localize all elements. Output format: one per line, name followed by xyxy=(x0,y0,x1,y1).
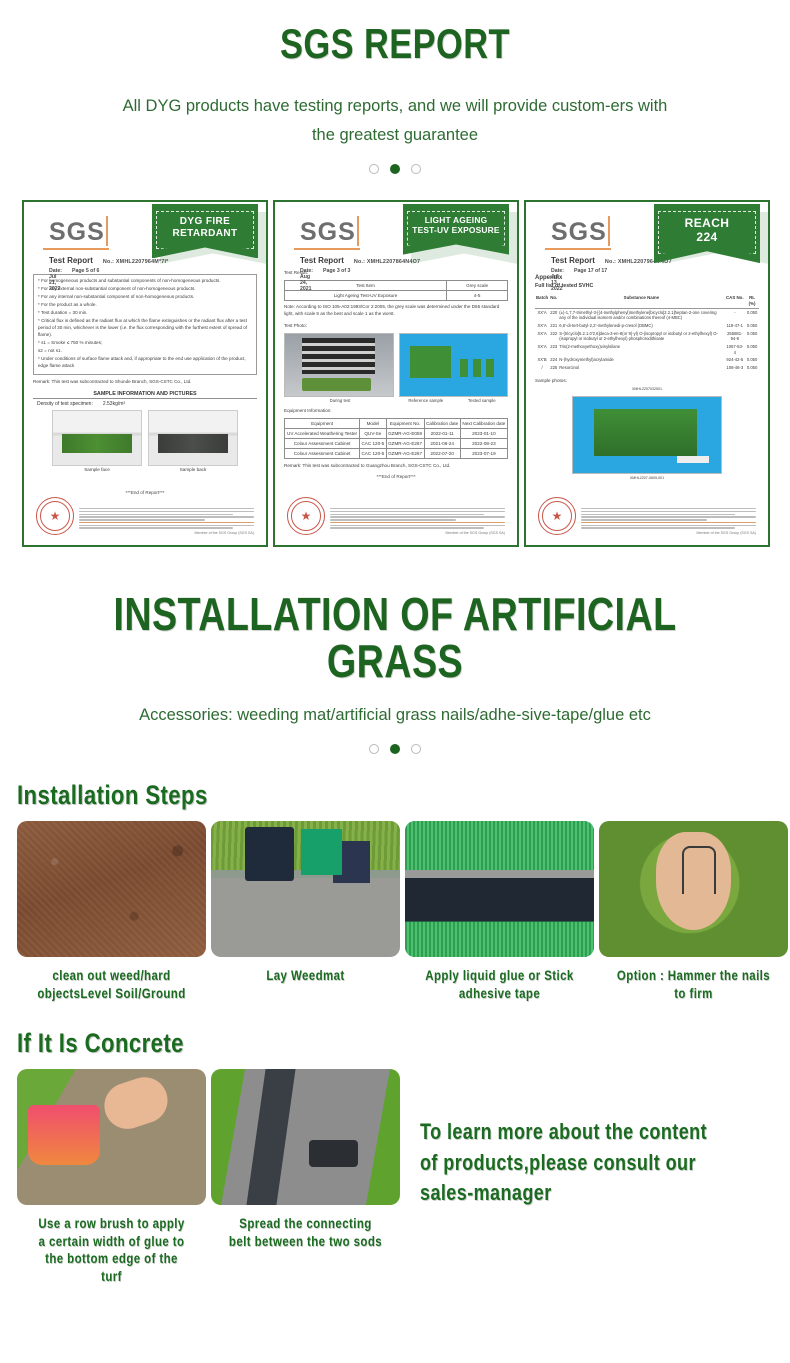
report-date-1: Date: Jul 21, 2022 xyxy=(49,268,62,292)
sample-face-photo xyxy=(52,410,142,466)
installation-steps-grid: clean out weed/hard objectsLevel Soil/Gr… xyxy=(17,821,773,1002)
badge-line-1: DYG FIRE xyxy=(159,216,251,228)
sales-promo-text: To learn more about the content of produ… xyxy=(420,1069,709,1208)
red-seal-stamp-3 xyxy=(538,497,576,535)
during-test-photo xyxy=(284,333,394,397)
sgs-group-note-3: Member of the SGS Group (SGS SA) xyxy=(581,531,756,535)
sgs-report-hero: SGS REPORT All DYG products have testing… xyxy=(0,0,790,174)
step-item[interactable]: Lay Weedmat xyxy=(211,821,400,1002)
footer-fineprint-3: Member of the SGS Group (SGS SA) xyxy=(581,508,756,535)
carousel-dots-bottom[interactable] xyxy=(0,744,790,754)
col-batch: Batch xyxy=(535,294,549,308)
carousel-dot-3[interactable] xyxy=(411,164,421,174)
installation-hero: INSTALLATION OF ARTIFICIAL GRASS Accesso… xyxy=(0,547,790,755)
cell: XX'A xyxy=(535,322,549,330)
certificate-card-reach[interactable]: REACH 224 SGS Test Report No.: XMHL22079… xyxy=(524,200,770,547)
step-caption: Option : Hammer the nails to firm xyxy=(616,967,771,1002)
badge-line-2: TEST-UV EXPOSURE xyxy=(410,226,502,236)
step-item[interactable]: clean out weed/hard objectsLevel Soil/Gr… xyxy=(17,821,206,1002)
badge-line-2: RETARDANT xyxy=(159,228,251,240)
cell: XX'A xyxy=(535,308,549,322)
footer-fineprint-2: Member of the SGS Group (SGS SA) xyxy=(330,508,505,535)
concrete-step-caption: Spread the connecting belt between the t… xyxy=(228,1215,383,1250)
installation-steps-heading: Installation Steps xyxy=(17,780,208,811)
soil-photo xyxy=(17,821,206,957)
installation-subtitle: Accessories: weeding mat/artificial gras… xyxy=(115,701,675,731)
certificate-footer-1: Member of the SGS Group (SGS SA) xyxy=(36,497,254,535)
test-report-label-3: Test Report xyxy=(551,256,595,265)
red-seal-stamp-1 xyxy=(36,497,74,535)
sgs-logo-3: SGS xyxy=(551,218,607,247)
red-seal-stamp-2 xyxy=(287,497,325,535)
report-number-1: No.: XMHL2207964M*7I* xyxy=(103,259,169,265)
test-report-label-2: Test Report xyxy=(300,256,344,265)
footer-fineprint-1: Member of the SGS Group (SGS SA) xyxy=(79,508,254,535)
sgs-logo-1: SGS xyxy=(49,218,105,247)
certificates-row: DYG FIRE RETARDANT SGS Test Report No.: … xyxy=(0,174,790,547)
test-report-label-1: Test Report xyxy=(49,256,93,265)
concrete-step-item[interactable]: Use a row brush to apply a certain width… xyxy=(17,1069,206,1285)
cell: XX'A xyxy=(535,343,549,356)
concrete-heading: If It Is Concrete xyxy=(17,1028,184,1059)
concrete-step-item[interactable]: Spread the connecting belt between the t… xyxy=(211,1069,400,1250)
certificate-card-light-ageing[interactable]: LIGHT AGEING TEST-UV EXPOSURE SGS Test R… xyxy=(273,200,519,547)
step-caption: Apply liquid glue or Stick adhesive tape xyxy=(422,967,577,1002)
nail-hand-photo xyxy=(599,821,788,957)
hero-subtitle: All DYG products have testing reports, a… xyxy=(115,92,675,150)
report-date-3: Date: Jul 13, 2022 xyxy=(551,268,564,292)
certificate-footer-2: Member of the SGS Group (SGS SA) xyxy=(287,497,505,535)
badge-line-2: 224 xyxy=(661,230,753,244)
glue-roller-photo xyxy=(405,821,594,957)
certificate-footer-3: Member of the SGS Group (SGS SA) xyxy=(538,497,756,535)
step-item[interactable]: Apply liquid glue or Stick adhesive tape xyxy=(405,821,594,1002)
brush-glue-photo xyxy=(17,1069,206,1205)
concrete-grid: Use a row brush to apply a certain width… xyxy=(17,1069,773,1285)
reach-sample-photo xyxy=(572,396,722,474)
carousel-dot-1[interactable] xyxy=(369,164,379,174)
carousel-dots-top[interactable] xyxy=(0,164,790,174)
carousel-dot-2-active[interactable] xyxy=(390,744,400,754)
sgs-logo-2: SGS xyxy=(300,218,356,247)
sample-comparison-photo xyxy=(399,333,509,397)
sgs-group-note-1: Member of the SGS Group (SGS SA) xyxy=(79,531,254,535)
concrete-step-caption: Use a row brush to apply a certain width… xyxy=(34,1215,189,1285)
cell: XX'B xyxy=(535,356,549,364)
report-number-2: No.: XMHL2207864N4O7 xyxy=(354,259,420,265)
step-caption: Lay Weedmat xyxy=(228,967,383,985)
cell: / xyxy=(535,364,549,372)
connecting-belt-photo xyxy=(211,1069,400,1205)
carousel-dot-3[interactable] xyxy=(411,744,421,754)
page-root: SGS REPORT All DYG products have testing… xyxy=(0,0,790,1363)
step-item[interactable]: Option : Hammer the nails to firm xyxy=(599,821,788,1002)
certificate-card-fire-retardant[interactable]: DYG FIRE RETARDANT SGS Test Report No.: … xyxy=(22,200,268,547)
step-caption: clean out weed/hard objectsLevel Soil/Gr… xyxy=(34,967,189,1002)
installation-title: INSTALLATION OF ARTIFICIAL GRASS xyxy=(71,591,719,685)
page-title: SGS REPORT xyxy=(71,22,719,66)
carousel-dot-1[interactable] xyxy=(369,744,379,754)
badge-line-1: REACH xyxy=(661,216,753,230)
report-date-2: Date: Aug 24, 2021 xyxy=(300,268,313,292)
sample-back-photo xyxy=(148,410,238,466)
cell: XX'A xyxy=(535,330,549,343)
weedmat-photo xyxy=(211,821,400,957)
installation-steps-section: Installation Steps clean out weed/hard o… xyxy=(0,754,790,1002)
carousel-dot-2-active[interactable] xyxy=(390,164,400,174)
sgs-group-note-2: Member of the SGS Group (SGS SA) xyxy=(330,531,505,535)
concrete-section: If It Is Concrete Use a row brush to app… xyxy=(0,1002,790,1285)
